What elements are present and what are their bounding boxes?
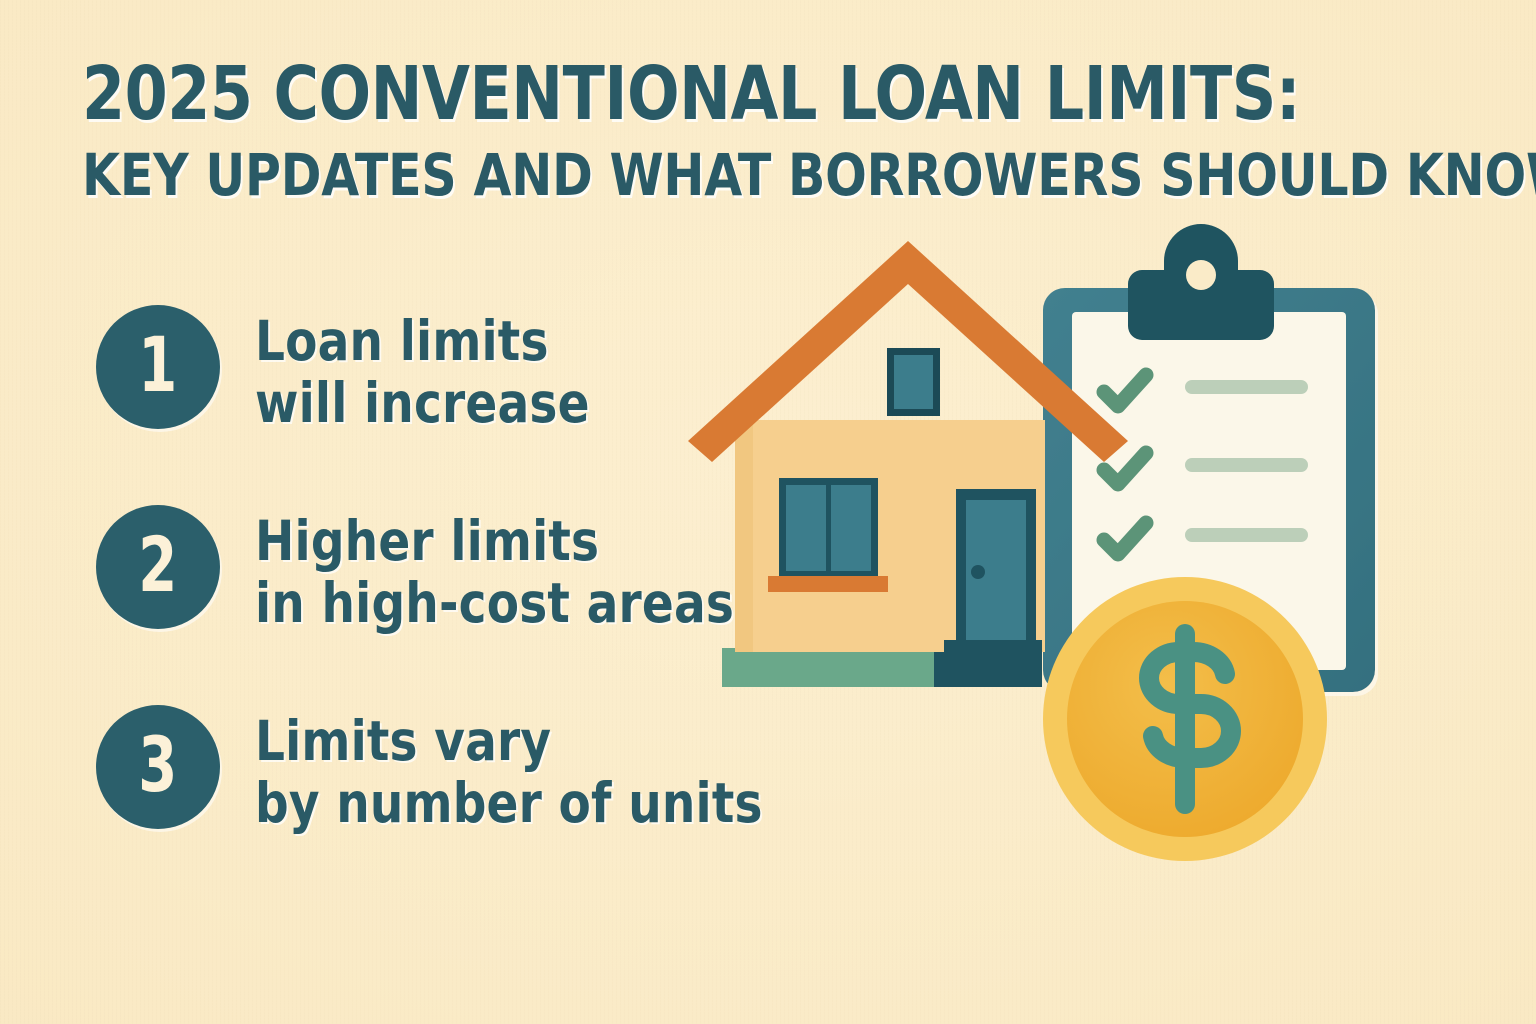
house-door-knob — [971, 565, 985, 579]
clipboard-line-bar — [1185, 528, 1308, 542]
house-window-pane-right — [831, 485, 871, 571]
page-title: 2025 CONVENTIONAL LOAN LIMITS: — [82, 58, 1365, 131]
point-number-badge-1: 1 — [96, 305, 220, 429]
house-front-step-upper — [944, 640, 1042, 654]
clipboard-line-bar — [1185, 380, 1308, 394]
house-attic-window-pane — [894, 355, 933, 409]
point-label-1: Loan limits will increase — [255, 311, 590, 434]
list-item: 1 Loan limits will increase — [96, 305, 789, 434]
clipboard-clip-hole — [1186, 260, 1216, 290]
list-item: 3 Limits vary by number of units — [96, 705, 789, 834]
point-number-3: 3 — [138, 727, 177, 803]
clipboard-clip-group — [1128, 224, 1274, 340]
dollar-coin-illustration — [1043, 577, 1327, 861]
list-item: 2 Higher limits in high-cost areas — [96, 505, 789, 634]
house-front-step — [934, 652, 1042, 687]
point-label-3: Limits vary by number of units — [255, 711, 763, 834]
point-number-badge-2: 2 — [96, 505, 220, 629]
page-subtitle: KEY UPDATES AND WHAT BORROWERS SHOULD KN… — [82, 145, 1379, 206]
point-number-1: 1 — [138, 327, 177, 403]
infographic-canvas: 2025 CONVENTIONAL LOAN LIMITS: KEY UPDAT… — [0, 0, 1536, 1024]
point-number-2: 2 — [138, 527, 177, 603]
clipboard-line-bar — [1185, 458, 1308, 472]
key-points-list: 1 Loan limits will increase 2 Higher lim… — [96, 305, 789, 835]
title-block: 2025 CONVENTIONAL LOAN LIMITS: KEY UPDAT… — [82, 58, 1462, 205]
point-number-badge-3: 3 — [96, 705, 220, 829]
point-label-2: Higher limits in high-cost areas — [255, 511, 734, 634]
house-window-pane-left — [786, 485, 826, 571]
